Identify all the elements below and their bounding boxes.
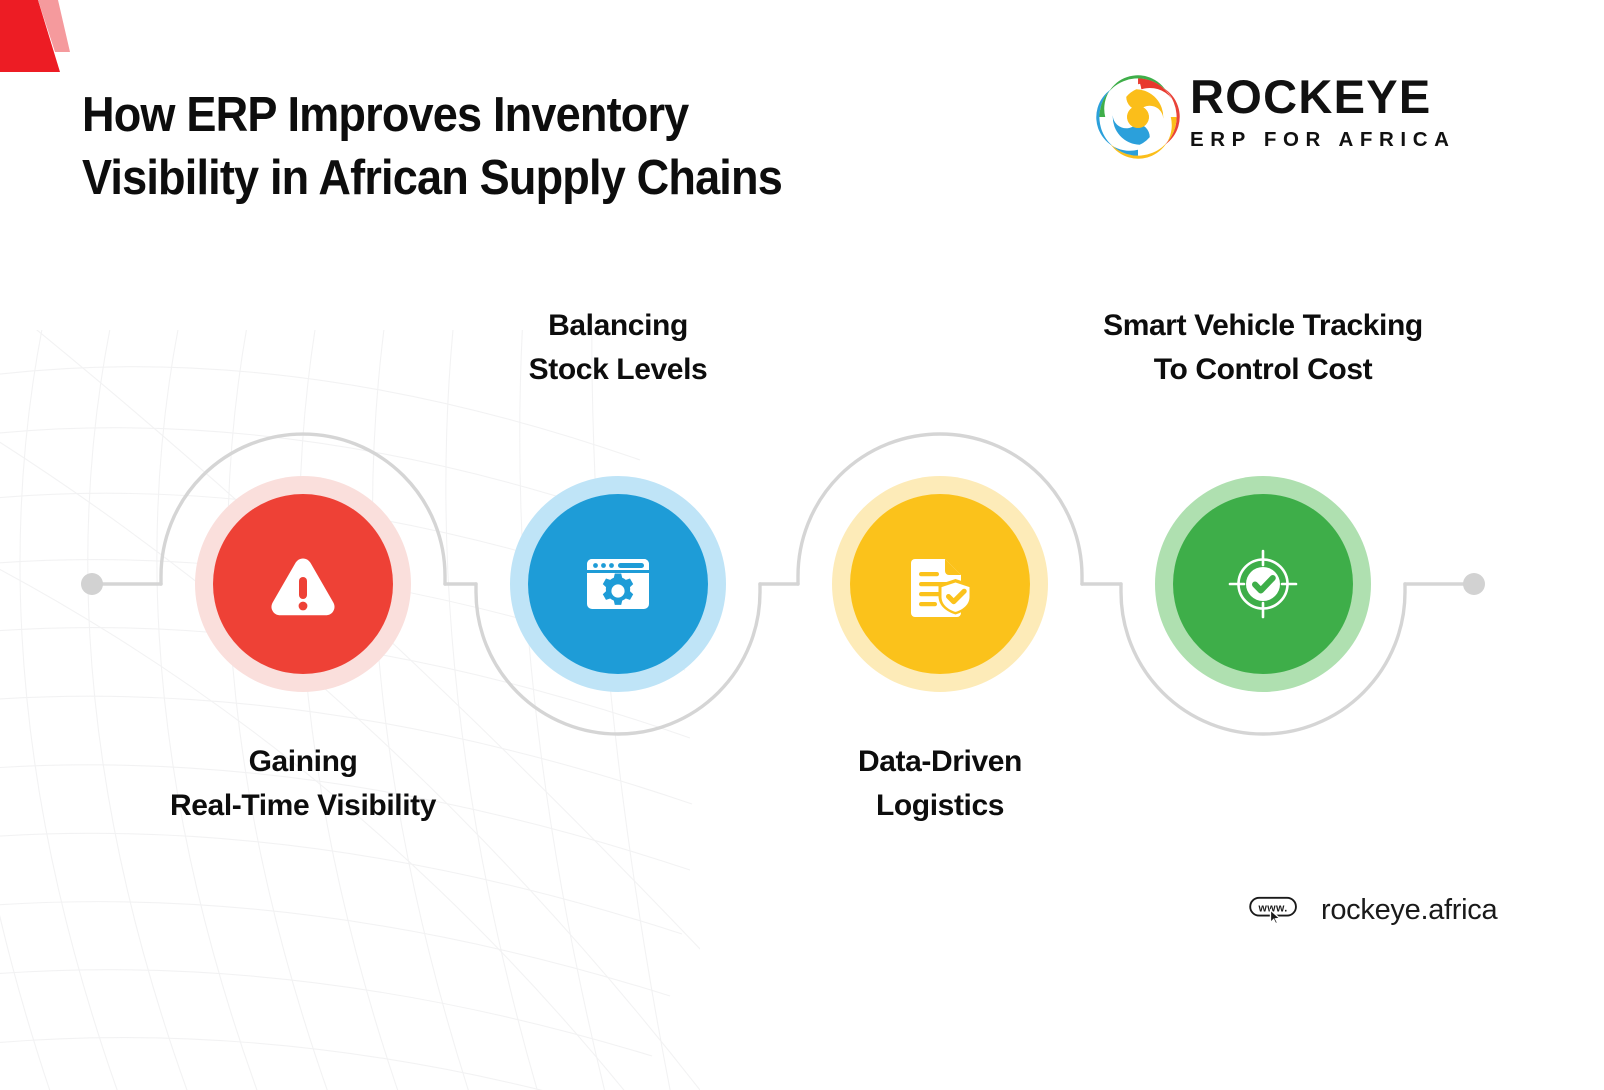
brand-logo[interactable]: ROCKEYE ERP FOR AFRICA xyxy=(1096,66,1496,168)
warning-triangle-icon xyxy=(257,538,349,630)
browser-window-gear-icon xyxy=(575,541,661,627)
track-endpoint-right xyxy=(1463,573,1485,595)
flow-node-3-label: Data-Driven Logistics xyxy=(740,740,1140,828)
www-pill-cursor-icon: www. xyxy=(1247,896,1307,924)
target-crosshair-check-icon xyxy=(1217,538,1309,630)
flow-node-4-label: Smart Vehicle Tracking To Control Cost xyxy=(1023,304,1503,392)
flow-node-2[interactable] xyxy=(528,494,708,674)
site-footer[interactable]: www. rockeye.africa xyxy=(1247,888,1497,932)
flow-node-4[interactable] xyxy=(1173,494,1353,674)
flow-node-1[interactable] xyxy=(213,494,393,674)
page-title: How ERP Improves Inventory Visibility in… xyxy=(82,84,782,210)
track-endpoint-left xyxy=(81,573,103,595)
document-shield-check-icon xyxy=(897,541,983,627)
brand-text: ROCKEYE ERP FOR AFRICA xyxy=(1190,72,1456,154)
site-url[interactable]: rockeye.africa xyxy=(1321,894,1497,927)
brand-name: ROCKEYE xyxy=(1190,72,1456,122)
flow-node-2-label: Balancing Stock Levels xyxy=(418,304,818,392)
flow-node-1-label: Gaining Real-Time Visibility xyxy=(103,740,503,828)
header: How ERP Improves Inventory Visibility in… xyxy=(0,0,1604,230)
rockeye-swirl-icon xyxy=(1096,74,1180,160)
flow-node-3[interactable] xyxy=(850,494,1030,674)
brand-tagline: ERP FOR AFRICA xyxy=(1190,126,1456,154)
flow-diagram: Gaining Real-Time Visibility Balancing S… xyxy=(0,280,1604,900)
